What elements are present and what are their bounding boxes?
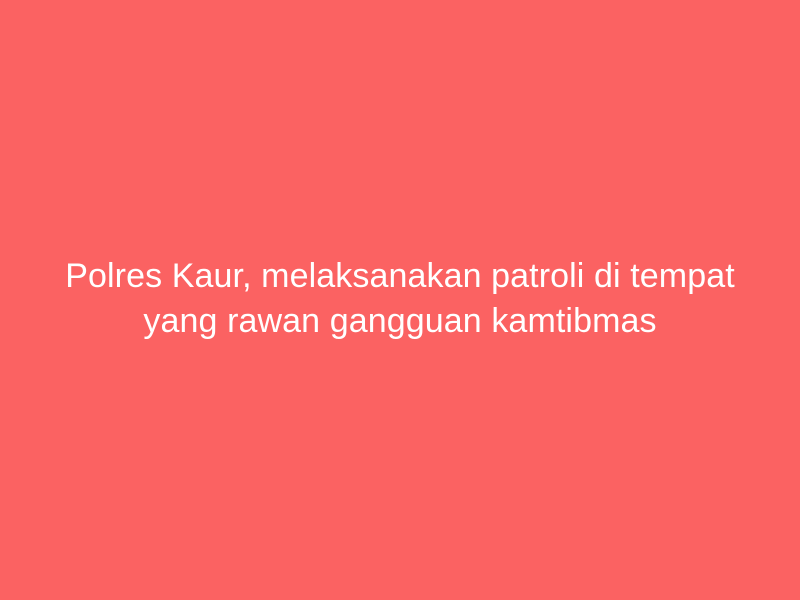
caption-line-2: yang rawan gangguan kamtibmas: [50, 299, 750, 344]
caption-block: Polres Kaur, melaksanakan patroli di tem…: [50, 254, 750, 344]
caption-line-1: Polres Kaur, melaksanakan patroli di tem…: [50, 254, 750, 299]
placeholder-card: Polres Kaur, melaksanakan patroli di tem…: [0, 0, 800, 600]
